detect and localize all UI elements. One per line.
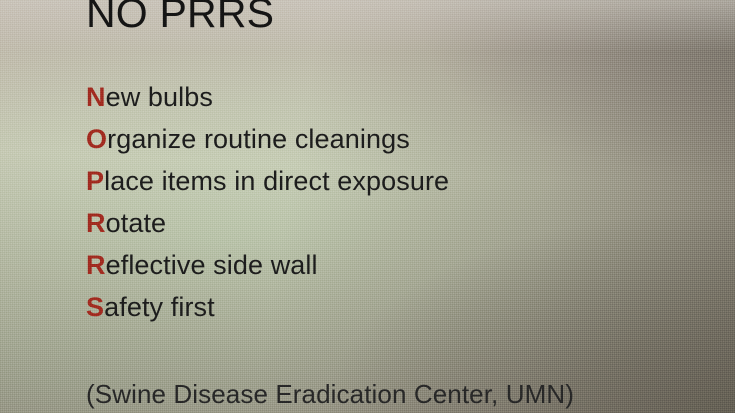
list-item: Reflective side wall (86, 250, 449, 292)
slide-title: NO PRRS (86, 0, 274, 37)
bullet-initial-letter: R (86, 208, 106, 238)
bullet-text: afety first (104, 292, 215, 322)
bullet-text: ew bulbs (106, 82, 213, 112)
bullet-initial-letter: R (86, 250, 106, 280)
list-item: Safety first (86, 292, 449, 334)
bullet-text: lace items in direct exposure (104, 166, 449, 196)
list-item: New bulbs (86, 82, 449, 124)
slide-content: NO PRRS New bulbs Organize routine clean… (0, 0, 735, 413)
list-item: Place items in direct exposure (86, 166, 449, 208)
bullet-text: otate (106, 208, 167, 238)
bullet-initial-letter: P (86, 166, 104, 196)
list-item: Rotate (86, 208, 449, 250)
bullet-initial-letter: S (86, 292, 104, 322)
bullet-initial-letter: O (86, 124, 107, 154)
bullet-text: rganize routine cleanings (107, 124, 410, 154)
bullet-initial-letter: N (86, 82, 106, 112)
slide-photo: NO PRRS New bulbs Organize routine clean… (0, 0, 735, 413)
slide-citation: (Swine Disease Eradication Center, UMN) (86, 379, 574, 410)
bullet-list: New bulbs Organize routine cleanings Pla… (86, 82, 449, 334)
bullet-text: eflective side wall (106, 250, 318, 280)
list-item: Organize routine cleanings (86, 124, 449, 166)
